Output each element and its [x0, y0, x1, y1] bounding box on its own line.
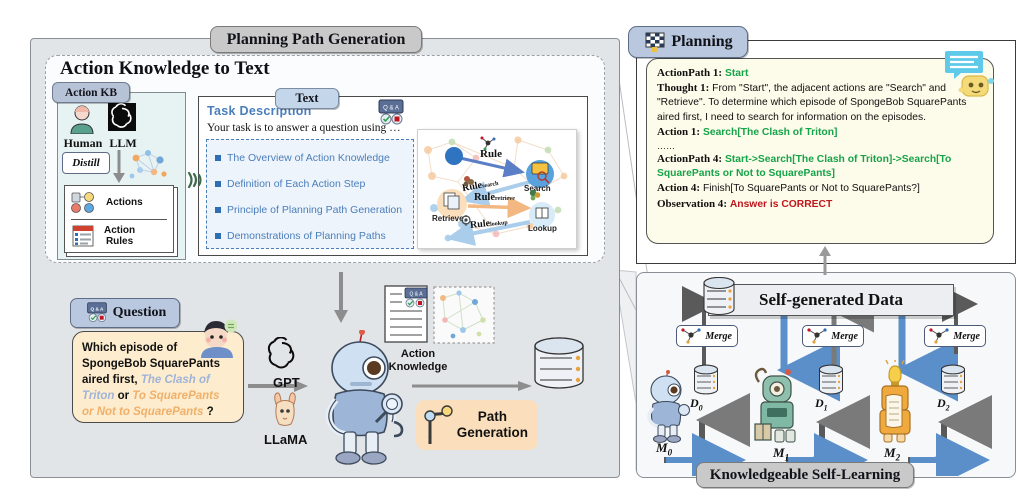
rule-cogs-icon — [528, 188, 542, 202]
bullet-square-icon — [215, 155, 221, 161]
user-avatar-icon — [197, 318, 237, 358]
path-generation-arrow-icon — [412, 378, 534, 394]
gpt-label: GPT — [273, 375, 300, 390]
assistant-bot-icon — [958, 72, 996, 102]
tab-planning-path-generation-label: Planning Path Generation — [227, 31, 406, 49]
bullet-label-2: Principle of Planning Path Generation — [227, 204, 402, 216]
graph-node-label-retrieve: Retrieve — [432, 214, 464, 223]
svg-text:Q & A: Q & A — [383, 106, 399, 112]
rule-sub-retrieve: retrieve — [495, 196, 515, 202]
bullet-square-icon — [215, 181, 221, 187]
rule-node-icon — [480, 136, 496, 150]
actions-icon — [70, 191, 96, 215]
transcript-label-observation-4: Observation 4 — [657, 198, 723, 210]
dataset-d2-small-letter: D — [937, 396, 946, 410]
transcript-line-action-1: Action 1: Search[The Clash of Triton] — [657, 125, 983, 140]
dataset-d1-small-letter: D — [815, 396, 824, 410]
model-m2-robot-icon — [866, 360, 924, 444]
svg-text:Q & A: Q & A — [90, 306, 103, 311]
path-generation-label: Path Generation — [457, 409, 528, 441]
distill-badge: Distill — [62, 152, 110, 174]
question-tail: ? — [203, 406, 213, 418]
model-m1-letter: M — [773, 445, 785, 460]
dataset-d0-icon — [530, 336, 588, 394]
merge-chip-0: Merge — [676, 325, 738, 347]
rule-sub-lookup: lookup — [490, 220, 508, 228]
self-generated-data-label: Self-generated Data — [759, 290, 903, 310]
tab-action-kb-label: Action KB — [65, 87, 117, 99]
transcript-line-action-4: Action 4: Finish[To SquarePants or Not t… — [657, 181, 983, 196]
model-m0-letter: M — [656, 440, 668, 455]
tab-knowledgeable-self-learning[interactable]: Knowledgeable Self-Learning — [696, 462, 914, 488]
task-description-line: Your task is to answer a question using … — [207, 122, 401, 134]
rule-gear-icon — [462, 174, 476, 188]
transcript-label-action-1: Action 1 — [657, 126, 696, 138]
action-cards-stack: Actions Action Rules — [64, 185, 174, 253]
action-knowledge-caption: Action Knowledge — [373, 348, 463, 374]
tab-planning-path-generation[interactable]: Planning Path Generation — [210, 26, 422, 53]
rule-cluster-icon — [460, 214, 474, 228]
transcript-line-thought-1: Thought 1: From "Start", the adjacent ac… — [657, 81, 983, 125]
model-m2-label: M2 — [884, 445, 900, 463]
qa-badge-icon: Q & A — [377, 99, 405, 127]
action-knowledge-to-text-heading: Action Knowledge to Text — [60, 58, 270, 80]
knowledge-to-agent-arrow-icon — [333, 272, 349, 324]
merge-icon — [928, 327, 950, 345]
bullet-item-1: Definition of Each Action Step — [215, 178, 365, 190]
tab-action-kb[interactable]: Action KB — [52, 82, 130, 103]
transcript-value-action-1: Search[The Clash of Triton] — [703, 127, 837, 138]
transcript-value-observation-4: Answer is CORRECT — [730, 199, 832, 210]
self-generated-data-bar: Self-generated Data — [708, 284, 954, 316]
action-rules-card-row: Action Rules — [65, 219, 173, 252]
dataset-d2-small-sub: 2 — [946, 403, 950, 412]
ksl-to-planning-arrow-icon — [818, 246, 832, 276]
transcript-ellipsis: …… — [657, 140, 983, 152]
path-generation-line1: Path — [478, 409, 507, 424]
action-knowledge-line2: Knowledge — [389, 361, 448, 373]
model-m1-label: M1 — [773, 445, 789, 463]
tab-question-label: Question — [113, 305, 167, 321]
action-knowledge-line1: Action — [401, 348, 435, 360]
transcript-label-thought-1: Thought 1 — [657, 82, 706, 94]
text-panel: Task Description Your task is to answer … — [198, 96, 588, 256]
model-m1-robot-icon — [745, 366, 809, 444]
human-icon — [68, 104, 96, 134]
transfer-signal-icon — [186, 168, 202, 192]
action-rules-label: Action Rules — [104, 225, 135, 247]
transcript-line-observation-4: Observation 4: Answer is CORRECT — [657, 197, 983, 212]
bullet-label-0: The Overview of Action Knowledge — [227, 152, 390, 164]
dataset-d1-small-label: D1 — [815, 396, 828, 412]
actions-label: Actions — [106, 197, 143, 208]
transcript-value-action-4: Finish[To SquarePants or Not to SquarePa… — [703, 183, 920, 194]
bullet-label-1: Definition of Each Action Step — [227, 178, 365, 190]
checkered-flag-icon — [644, 31, 666, 53]
path-generation-line2: Generation — [457, 425, 528, 440]
rules-document-icon — [72, 225, 94, 247]
kb-down-arrow-icon — [112, 150, 126, 184]
action-rules-line1: Action — [104, 225, 135, 236]
actions-card-row: Actions — [65, 186, 173, 219]
tab-question[interactable]: Q & A Question — [70, 298, 180, 328]
question-joiner: or — [114, 390, 132, 402]
dataset-d2-small-icon — [940, 364, 966, 398]
knowledge-graph-cluster-icon — [128, 148, 172, 184]
bullet-item-0: The Overview of Action Knowledge — [215, 152, 390, 164]
merge-label-0: Merge — [705, 331, 732, 342]
model-m2-letter: M — [884, 445, 896, 460]
text-bullet-list: The Overview of Action Knowledge Definit… — [206, 139, 414, 249]
self-generated-data-db-icon — [702, 276, 736, 320]
dataset-d2-small-label: D2 — [937, 396, 950, 412]
model-m0-sub: 0 — [668, 448, 673, 458]
model-m0-robot-icon — [640, 370, 698, 444]
merge-label-1: Merge — [831, 331, 858, 342]
transcript-line-actionpath-1: ActionPath 1: Start — [657, 66, 983, 81]
tab-planning-label: Planning — [671, 33, 732, 51]
graph-node-label-lookup: Lookup — [528, 224, 557, 233]
transcript-label-actionpath-1: ActionPath 1 — [657, 67, 718, 79]
bullet-square-icon — [215, 233, 221, 239]
bullet-item-2: Principle of Planning Path Generation — [215, 204, 402, 216]
bullet-square-icon — [215, 207, 221, 213]
openai-logo-icon — [108, 103, 136, 131]
llama-label: LLaMA — [264, 432, 307, 447]
merge-icon — [806, 327, 828, 345]
llama-icon — [270, 390, 300, 428]
tab-planning[interactable]: Planning — [628, 26, 748, 58]
model-m0-label: M0 — [656, 440, 672, 458]
distill-label: Distill — [72, 157, 100, 169]
merge-chip-1: Merge — [802, 325, 864, 347]
transcript-value-actionpath-1: Start — [725, 68, 748, 79]
planning-transcript: ActionPath 1: Start Thought 1: From "Sta… — [646, 58, 994, 244]
rule-word: Rule — [474, 192, 495, 203]
transcript-label-action-4: Action 4 — [657, 182, 696, 194]
human-label: Human — [62, 136, 104, 151]
action-knowledge-graph-thumb-icon — [433, 286, 495, 344]
transcript-label-actionpath-4: ActionPath 4 — [657, 153, 718, 165]
bullet-item-3: Demonstrations of Planning Paths — [215, 230, 386, 242]
tab-text-label: Text — [295, 91, 318, 106]
transcript-line-actionpath-4: ActionPath 4: Start->Search[The Clash of… — [657, 152, 983, 181]
dataset-d1-small-sub: 1 — [824, 403, 828, 412]
branching-path-icon — [422, 404, 456, 446]
svg-text:Q & A: Q & A — [409, 292, 423, 298]
merge-label-2: Merge — [953, 331, 980, 342]
graph-edge-label-rule-retrieve: Ruleretrieve — [474, 192, 515, 203]
bullet-label-3: Demonstrations of Planning Paths — [227, 230, 386, 242]
dataset-d1-small-icon — [818, 364, 844, 398]
openai-logo-icon — [264, 337, 300, 373]
action-rules-line2: Rules — [106, 236, 133, 247]
merge-chip-2: Merge — [924, 325, 986, 347]
qa-badge-icon: Q & A — [86, 302, 108, 324]
dataset-d0-small-sub: 0 — [699, 403, 703, 412]
action-knowledge-document-icon: Q & A — [383, 284, 431, 346]
action-knowledge-graph-card: Search Retrieve Lookup Rule Rulesearch R… — [417, 129, 577, 249]
tab-knowledgeable-self-learning-label: Knowledgeable Self-Learning — [710, 467, 900, 484]
merge-icon — [680, 327, 702, 345]
tab-text[interactable]: Text — [275, 88, 339, 109]
